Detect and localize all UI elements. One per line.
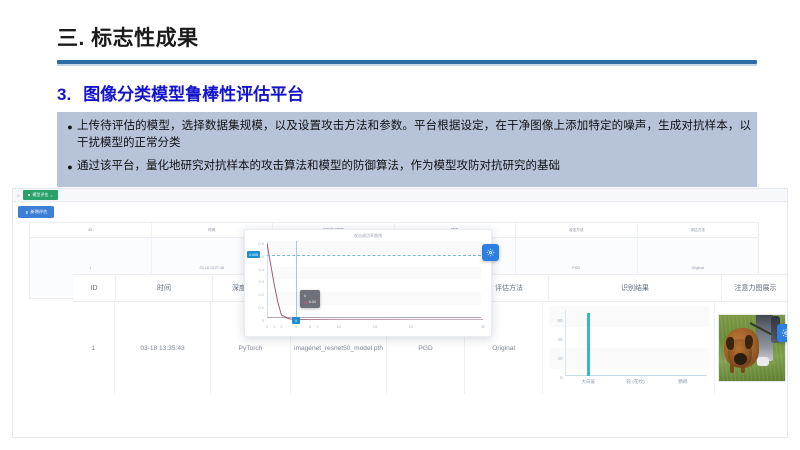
cell-attention-map[interactable] bbox=[715, 302, 788, 394]
chart-bar[interactable] bbox=[587, 313, 590, 376]
page-title: 三. 标志性成果 bbox=[57, 22, 199, 52]
y-tick-label: 0.5 bbox=[247, 254, 264, 259]
y-tick-label: 0 bbox=[247, 318, 264, 323]
toolbar: ⬆ 新增评估 bbox=[13, 202, 787, 222]
chart-grid-band bbox=[549, 348, 709, 369]
close-icon[interactable]: × bbox=[50, 193, 52, 198]
gear-icon[interactable] bbox=[777, 324, 788, 342]
dog-ear bbox=[726, 337, 734, 350]
x-tick-label: 20 bbox=[409, 324, 413, 329]
x-tick-label: 1 bbox=[273, 324, 275, 329]
bullet-dot-icon: ● bbox=[63, 118, 77, 135]
column-header-id: ID bbox=[30, 223, 152, 237]
attention-image[interactable] bbox=[718, 314, 786, 382]
bullet-dot-icon: ● bbox=[63, 158, 77, 175]
x-tick-label: 15 bbox=[373, 324, 377, 329]
x-tick-label: 10 bbox=[337, 324, 341, 329]
x-tick-label: 蛇 (花纹) bbox=[627, 377, 645, 386]
chart-grid-band bbox=[549, 306, 709, 327]
chart-axis bbox=[565, 310, 566, 376]
bullet-text: 上传待评估的模型，选择数据集规模，以及设置攻击方法和参数。平台根据设定，在干净图… bbox=[77, 118, 751, 151]
y-tick-label: 0.2 bbox=[247, 292, 264, 297]
chart-tooltip: 4 0.04 bbox=[300, 290, 320, 308]
crosshair-horizontal bbox=[267, 255, 481, 256]
recognition-bar-chart: 0204060大白鲨蛇 (花纹)鹦鹉 bbox=[549, 306, 709, 390]
y-tick-label: 0 bbox=[549, 373, 563, 382]
person-shoe bbox=[757, 357, 768, 366]
y-tick-label: 60 bbox=[549, 316, 563, 325]
new-evaluation-label: 新增评估 bbox=[31, 209, 48, 215]
column-header-attention: 注意力图展示 bbox=[722, 275, 788, 301]
gear-icon[interactable] bbox=[482, 244, 499, 261]
y-tick-label: 0.6 bbox=[247, 241, 264, 246]
section-number: 3. bbox=[57, 85, 71, 104]
x-tick-label: 鹦鹉 bbox=[678, 377, 687, 386]
x-tick-label: 大白鲨 bbox=[581, 377, 595, 386]
list-item: ● 通过该平台，量化地研究对抗样本的攻击算法和模型的防御算法，作为模型攻防对抗研… bbox=[57, 151, 757, 175]
column-header-id: ID bbox=[73, 275, 116, 301]
title-underline-shadow bbox=[57, 64, 757, 66]
slide: 三. 标志性成果 3.图像分类模型鲁棒性评估平台 ● 上传待评估的模型，选择数据… bbox=[0, 0, 800, 450]
cell-time: 03-18 13:35:43 bbox=[115, 302, 211, 394]
y-tick-label: 0.1 bbox=[247, 305, 264, 310]
x-tick-label: 30 bbox=[481, 324, 485, 329]
home-icon[interactable]: ⌂ bbox=[17, 192, 20, 198]
x-value-tag: 4 bbox=[292, 317, 300, 324]
x-tick-label: 0 bbox=[266, 324, 268, 329]
x-tick-label: 4 bbox=[295, 324, 297, 329]
upload-icon: ⬆ bbox=[25, 210, 29, 215]
attack-curve-popup[interactable]: 攻击成功率曲线 0.508 4 4 0.04 00.10.20.30.40.50… bbox=[244, 229, 492, 337]
section-subtitle-text: 图像分类模型鲁棒性评估平台 bbox=[83, 85, 304, 104]
cell-result-chart[interactable]: 0204060大白鲨蛇 (花纹)鹦鹉 bbox=[543, 302, 715, 394]
bullet-list: ● 上传待评估的模型，选择数据集规模，以及设置攻击方法和参数。平台根据设定，在干… bbox=[57, 112, 757, 187]
embedded-app-screenshot: ⌂ 模型评估 × ⬆ 新增评估 ID 时间 深度学习框架 模型 攻击方法 评估方… bbox=[12, 188, 788, 438]
tab-label: 模型评估 bbox=[32, 192, 48, 198]
column-header-attack: 攻击方法 bbox=[516, 223, 638, 237]
x-tick-label: 7 bbox=[316, 324, 318, 329]
list-item: ● 上传待评估的模型，选择数据集规模，以及设置攻击方法和参数。平台根据设定，在干… bbox=[57, 112, 757, 151]
y-tick-label: 40 bbox=[549, 335, 563, 344]
column-header-time: 时间 bbox=[116, 275, 213, 301]
tooltip-value: 0.04 bbox=[309, 300, 316, 304]
cell-id: 1 bbox=[73, 302, 115, 394]
column-header-result: 识别结果 bbox=[549, 275, 722, 301]
y-tick-label: 20 bbox=[549, 354, 563, 363]
tab-status-dot-icon bbox=[28, 194, 30, 196]
chart-grid-band bbox=[549, 327, 709, 348]
x-tick-label: 6 bbox=[309, 324, 311, 329]
column-header-eval: 评估方法 bbox=[638, 223, 759, 237]
section-subtitle: 3.图像分类模型鲁棒性评估平台 bbox=[57, 80, 304, 105]
y-tick-label: 0.3 bbox=[247, 279, 264, 284]
popup-title: 攻击成功率曲线 bbox=[245, 233, 491, 239]
new-evaluation-button[interactable]: ⬆ 新增评估 bbox=[18, 206, 54, 218]
tab-model-evaluation[interactable]: 模型评估 × bbox=[23, 190, 57, 200]
dog-muzzle bbox=[734, 353, 747, 365]
tooltip-series-dot-icon bbox=[304, 301, 307, 304]
line-chart-series bbox=[267, 241, 483, 320]
crosshair-vertical bbox=[296, 241, 297, 318]
y-tick-label: 0.4 bbox=[247, 267, 264, 272]
tab-bar: ⌂ 模型评估 × bbox=[13, 189, 787, 202]
bullet-text: 通过该平台，量化地研究对抗样本的攻击算法和模型的防御算法，作为模型攻防对抗研究的… bbox=[77, 158, 751, 175]
x-tick-label: 2 bbox=[280, 324, 282, 329]
